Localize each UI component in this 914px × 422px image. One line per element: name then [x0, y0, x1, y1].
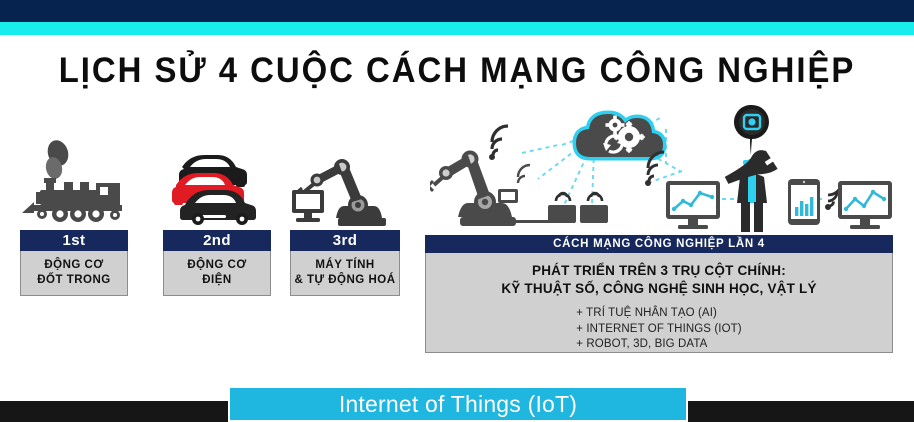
monitor-line-chart-icon [838, 181, 892, 229]
three-cars-icon [160, 145, 265, 230]
era-3-label-line1: MÁY TÍNH [315, 258, 374, 273]
era-box-4[interactable]: CÁCH MẠNG CÔNG NGHIỆP LẦN 4 PHÁT TRIỂN T… [425, 235, 893, 353]
era-2-label-line1: ĐỘNG CƠ [187, 258, 246, 273]
tablet-chart-icon [788, 179, 820, 225]
era-box-1[interactable]: 1st ĐỘNG CƠ ĐỐT TRONG [20, 230, 128, 296]
era-1-body: ĐỘNG CƠ ĐỐT TRONG [20, 251, 128, 296]
era-box-3[interactable]: 3rd MÁY TÍNH & TỰ ĐỘNG HOÁ [290, 230, 400, 296]
location-pin-icon [734, 105, 769, 155]
era-3-label-line2: & TỰ ĐỘNG HOÁ [294, 273, 395, 288]
technician-wrench-icon [724, 105, 781, 232]
cloud-gears-icon [576, 114, 663, 157]
wifi-signal-icon [492, 126, 508, 155]
iot-banner[interactable]: Internet of Things (IoT) [228, 386, 688, 422]
era-box-2[interactable]: 2nd ĐỘNG CƠ ĐIỆN [163, 230, 271, 296]
era-1-ordinal: 1st [20, 230, 128, 251]
era-4-pillars-line2: KỸ THUẬT SỐ, CÔNG NGHỆ SINH HỌC, VẬT LÝ [501, 280, 816, 298]
era-4-body: PHÁT TRIỂN TRÊN 3 TRỤ CỘT CHÍNH: KỸ THUẬ… [425, 253, 893, 353]
era-2-body: ĐỘNG CƠ ĐIỆN [163, 251, 271, 296]
era-4-bullet-3: + ROBOT, 3D, BIG DATA [576, 337, 741, 353]
era-4-bullet-1: + TRÍ TUỆ NHÂN TẠO (AI) [576, 306, 741, 322]
monitor-line-chart-icon [666, 181, 720, 229]
server-box-icon [516, 205, 608, 223]
era-4-pillars: PHÁT TRIỂN TRÊN 3 TRỤ CỘT CHÍNH: KỸ THUẬ… [501, 262, 816, 297]
era-4-bullet-2: + INTERNET OF THINGS (IOT) [576, 322, 741, 338]
era-4-bullets: + TRÍ TUỆ NHÂN TẠO (AI) + INTERNET OF TH… [576, 306, 741, 353]
era-2-label-line2: ĐIỆN [202, 273, 231, 288]
top-navy-bar [0, 0, 914, 22]
era-3-body: MÁY TÍNH & TỰ ĐỘNG HOÁ [290, 251, 400, 296]
industry-4-iot-illustration [430, 105, 895, 238]
top-cyan-bar [0, 22, 914, 35]
steam-locomotive-icon [18, 140, 138, 230]
robot-arm-icon [439, 151, 516, 227]
era-1-label-line1: ĐỘNG CƠ [44, 258, 103, 273]
robot-arm-computer-icon [288, 150, 393, 233]
page-title: LỊCH SỬ 4 CUỘC CÁCH MẠNG CÔNG NGHIỆP [27, 51, 886, 91]
era-4-pillars-line1: PHÁT TRIỂN TRÊN 3 TRỤ CỘT CHÍNH: [501, 262, 816, 280]
era-4-heading: CÁCH MẠNG CÔNG NGHIỆP LẦN 4 [425, 235, 893, 253]
era-3-ordinal: 3rd [290, 230, 400, 251]
iot-banner-label: Internet of Things (IoT) [339, 391, 577, 418]
era-1-label-line2: ĐỐT TRONG [37, 273, 111, 288]
era-2-ordinal: 2nd [163, 230, 271, 251]
